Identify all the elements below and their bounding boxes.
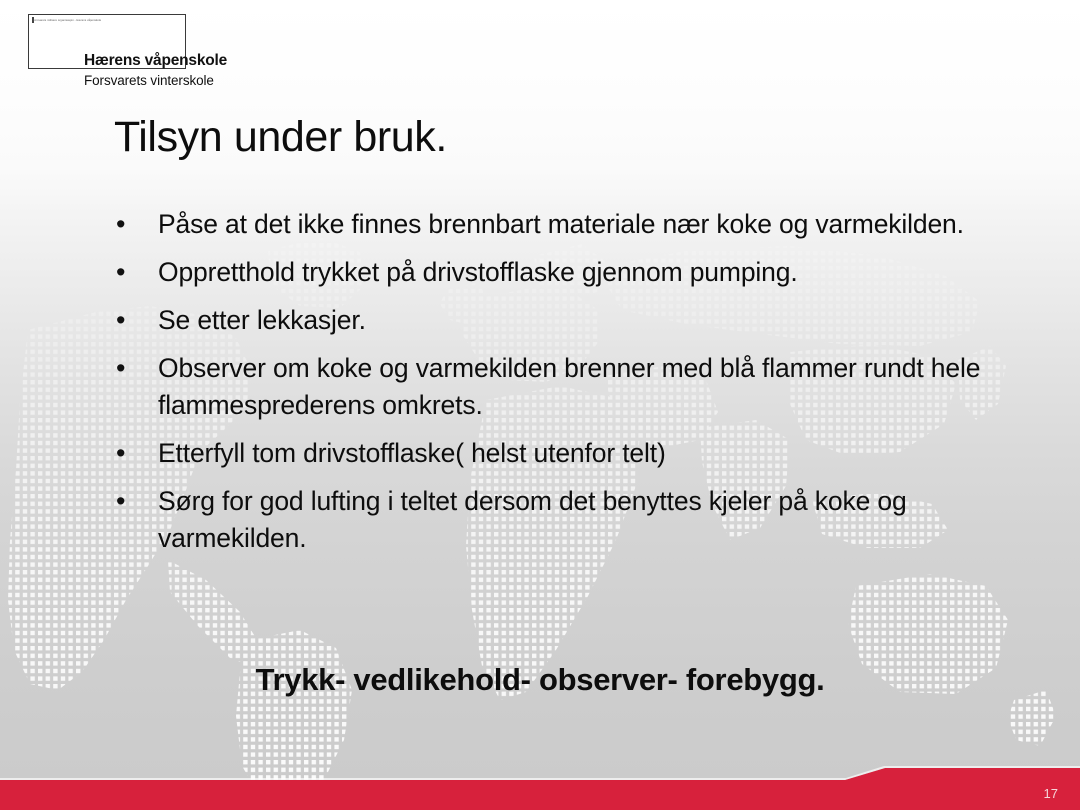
bullet-marker-icon: • <box>114 483 158 520</box>
logo-microtext: Forsvarets militære organisasjon - Hæren… <box>33 18 181 23</box>
list-item: • Sørg for god lufting i teltet dersom d… <box>114 483 1024 557</box>
list-item-text: Påse at det ikke finnes brennbart materi… <box>158 206 1024 243</box>
header-logo: Forsvarets militære organisasjon - Hæren… <box>0 0 420 105</box>
bullet-list: • Påse at det ikke finnes brennbart mate… <box>114 206 1024 568</box>
bullet-marker-icon: • <box>114 254 158 291</box>
conclusion-text: Trykk- vedlikehold- observer- forebygg. <box>0 662 1080 698</box>
organization-name: Hærens våpenskole <box>84 52 227 70</box>
page-title: Tilsyn under bruk. <box>114 113 447 162</box>
list-item: • Etterfyll tom drivstofflaske( helst ut… <box>114 435 1024 472</box>
bullet-marker-icon: • <box>114 435 158 472</box>
slide-number: 17 <box>1044 786 1058 801</box>
list-item-text: Se etter lekkasjer. <box>158 302 1024 339</box>
bullet-marker-icon: • <box>114 206 158 243</box>
list-item: • Påse at det ikke finnes brennbart mate… <box>114 206 1024 243</box>
list-item-text: Sørg for god lufting i teltet dersom det… <box>158 483 1024 557</box>
list-item-text: Observer om koke og varmekilden brenner … <box>158 350 1024 424</box>
list-item-text: Oppretthold trykket på drivstofflaske gj… <box>158 254 1024 291</box>
list-item: • Oppretthold trykket på drivstofflaske … <box>114 254 1024 291</box>
list-item-text: Etterfyll tom drivstofflaske( helst uten… <box>158 435 1024 472</box>
bullet-marker-icon: • <box>114 302 158 339</box>
department-name: Forsvarets vinterskole <box>84 73 214 88</box>
list-item: • Observer om koke og varmekilden brenne… <box>114 350 1024 424</box>
list-item: • Se etter lekkasjer. <box>114 302 1024 339</box>
bullet-marker-icon: • <box>114 350 158 387</box>
presentation-slide: Forsvarets militære organisasjon - Hæren… <box>0 0 1080 810</box>
footer-red-band <box>0 760 1080 810</box>
